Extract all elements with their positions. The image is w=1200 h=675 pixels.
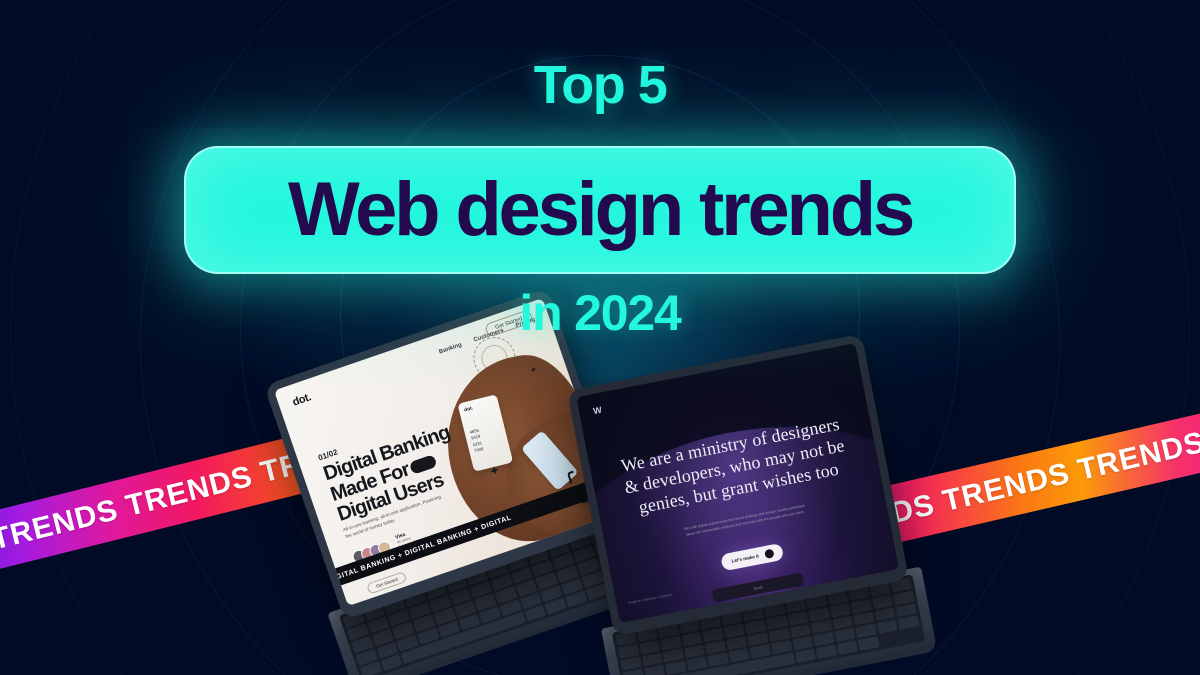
headline-pill: Web design trends [184,146,1016,274]
cta-label: Let's make it [731,553,759,563]
site-logo[interactable]: dot. [291,391,312,408]
year-text: in 2024 [0,288,1200,338]
studio-logo[interactable]: W [592,405,603,417]
laptop-screen-right: W We are a ministry of designers & devel… [576,343,899,623]
scroll-label: Scroll [753,585,763,591]
eyebrow-text: Top 5 [0,58,1200,112]
arrow-dot-icon [764,549,775,560]
nav-item-banking[interactable]: Banking [438,342,462,355]
eyebrow-wrap: Top 5 [0,58,1200,112]
poster-canvas: Top 5 Web design trends in 2024 DS TREND… [0,0,1200,675]
page-title: Web design trends [288,172,912,248]
